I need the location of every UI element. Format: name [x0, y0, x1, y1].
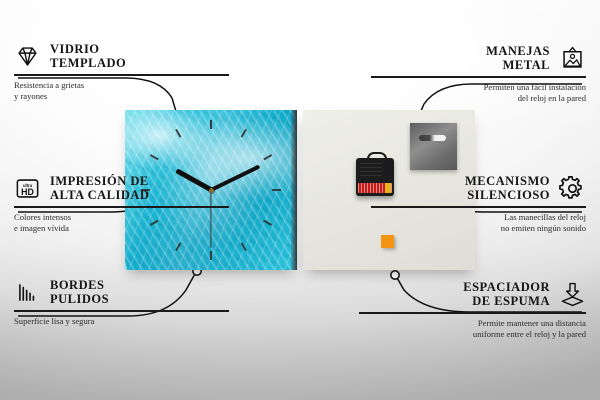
press-down-arrow-icon — [559, 281, 586, 308]
callout-title: MANEJAS — [486, 44, 550, 58]
callout-subtitle: Permite mantener una distancia — [359, 318, 586, 330]
callout-rule — [14, 206, 229, 208]
mechanism-hook — [367, 152, 387, 163]
callout-title-2: DE ESPUMA — [463, 294, 550, 308]
foam-spacer — [381, 235, 394, 248]
callout-impresion-alta-calidad: ultra HD IMPRESIÓN DE ALTA CALIDAD Color… — [14, 174, 229, 235]
callout-vidrio-templado: VIDRIO TEMPLADO Resistencia a grietas y … — [14, 42, 229, 103]
callout-subtitle-2: del reloj en la pared — [371, 93, 586, 105]
callout-title-2: ALTA CALIDAD — [50, 188, 149, 202]
callout-title: IMPRESIÓN DE — [50, 174, 149, 188]
callout-manejas-metal: MANEJAS METAL Permiten una fácil instala… — [371, 44, 586, 105]
callout-rule — [14, 310, 229, 312]
callout-mecanismo-silencioso: MECANISMO SILENCIOSO Las manecillas del … — [371, 174, 586, 235]
callout-subtitle: Superficie lisa y segura — [14, 316, 229, 328]
beveled-edge-icon — [14, 279, 41, 306]
diamond-icon — [14, 43, 41, 70]
ultra-hd-icon: ultra HD — [14, 175, 41, 202]
callout-subtitle: Resistencia a grietas — [14, 80, 229, 92]
callout-espaciador-espuma: ESPACIADOR DE ESPUMA Permite mantener un… — [359, 280, 586, 341]
callout-title-2: SILENCIOSO — [465, 188, 550, 202]
callout-title: BORDES — [50, 278, 109, 292]
callout-rule — [371, 206, 586, 208]
callout-subtitle-2: no emiten ningún sonido — [371, 223, 586, 235]
infographic-canvas: VIDRIO TEMPLADO Resistencia a grietas y … — [0, 0, 600, 400]
callout-subtitle-2: uniforme entre el reloj y la pared — [359, 329, 586, 341]
callout-subtitle-2: e imagen vívida — [14, 223, 229, 235]
callout-subtitle: Permiten una fácil instalación — [371, 82, 586, 94]
callout-title-2: PULIDOS — [50, 292, 109, 306]
callout-rule — [14, 74, 229, 76]
callout-title: MECANISMO — [465, 174, 550, 188]
callout-rule — [371, 76, 586, 78]
hanger-keyhole-slot — [419, 135, 446, 141]
picture-hanger-icon — [559, 45, 586, 72]
metal-hanger-plate — [410, 123, 457, 170]
callout-title: ESPACIADOR — [463, 280, 550, 294]
callout-bordes-pulidos: BORDES PULIDOS Superficie lisa y segura — [14, 278, 229, 327]
callout-rule — [359, 312, 586, 314]
ultra-hd-large-text: HD — [21, 186, 34, 196]
callout-subtitle: Colores intensos — [14, 212, 229, 224]
callout-title: VIDRIO — [50, 42, 126, 56]
callout-subtitle: Las manecillas del reloj — [371, 212, 586, 224]
leader-dot-espaciador — [391, 271, 399, 279]
callout-subtitle-2: y rayones — [14, 91, 229, 103]
gear-icon — [559, 175, 586, 202]
callout-title-2: METAL — [486, 58, 550, 72]
callout-title-2: TEMPLADO — [50, 56, 126, 70]
